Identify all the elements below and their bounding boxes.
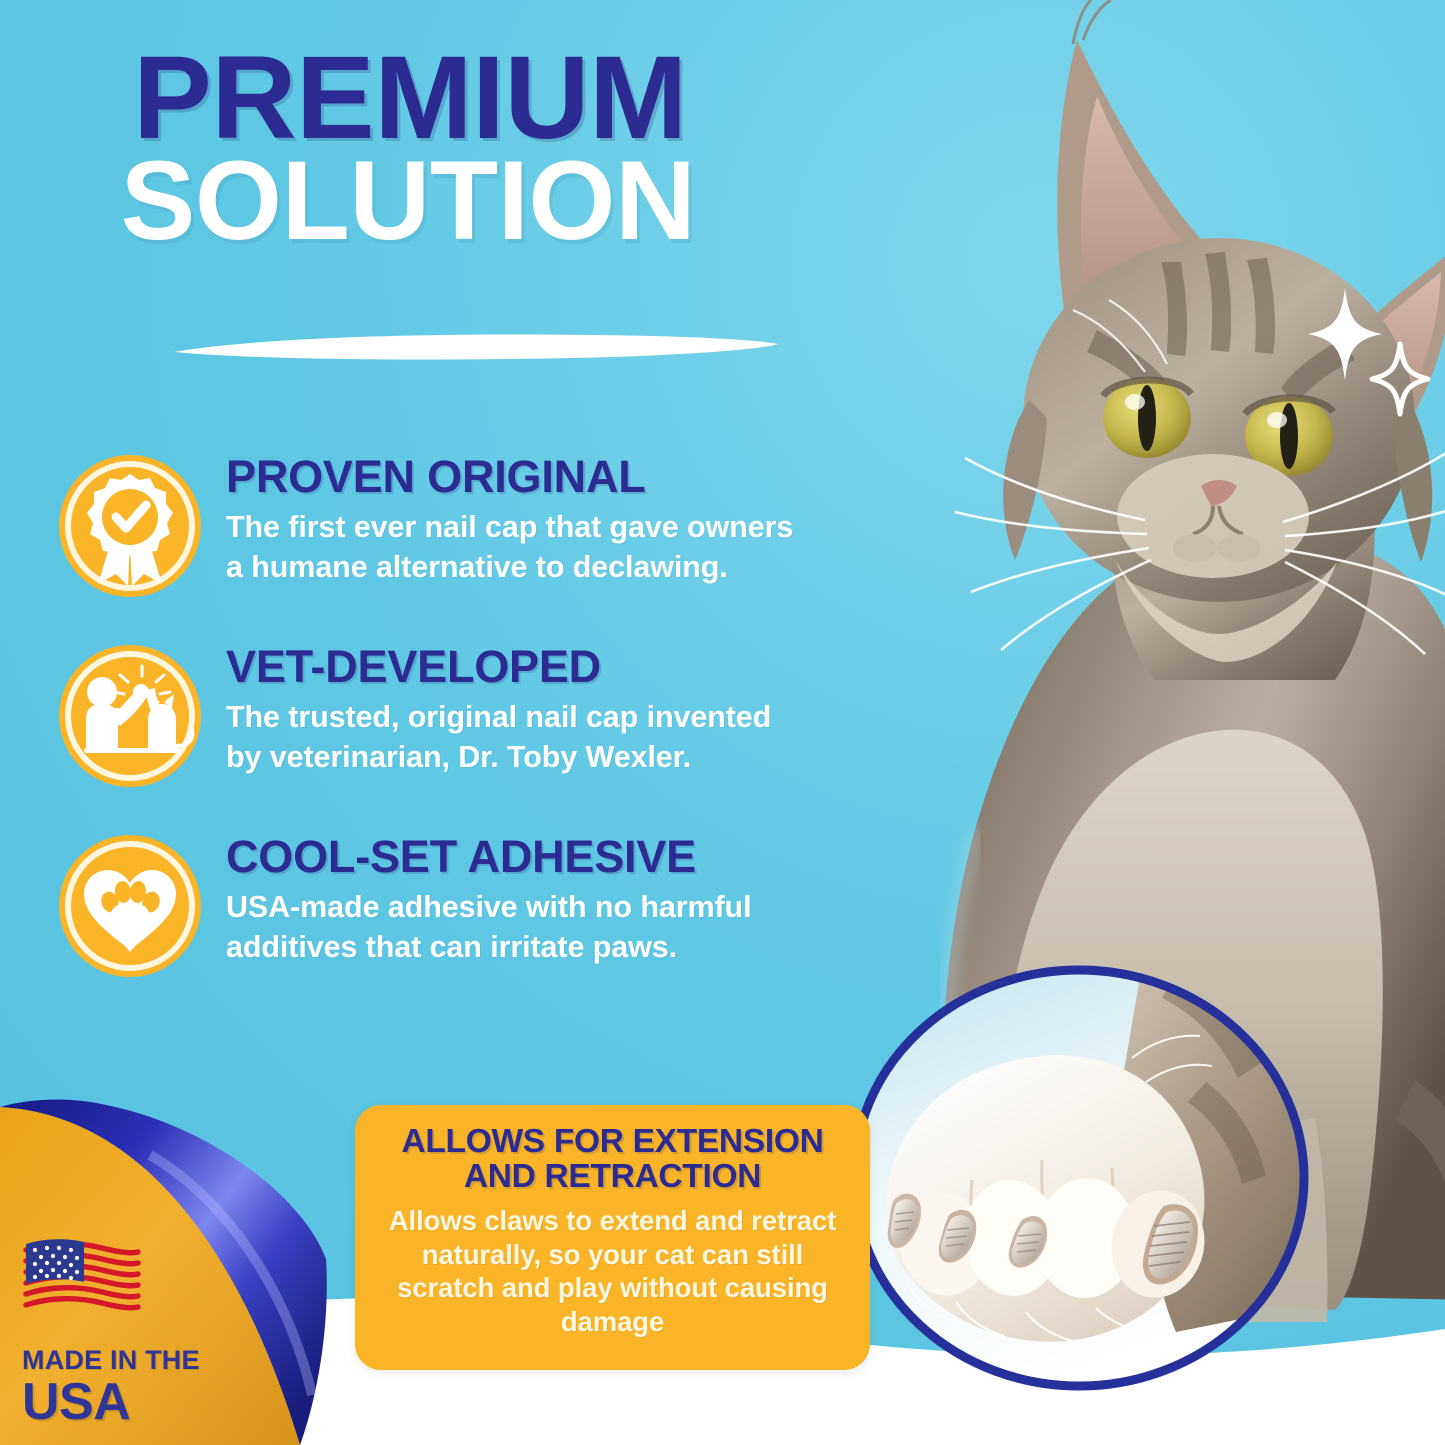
cat-paw-inset — [846, 962, 1312, 1394]
feature-item: COOL-SET ADHESIVE USA-made adhesive with… — [56, 826, 846, 980]
callout-title-line1: ALLOWS FOR EXTENSION — [377, 1125, 848, 1160]
headline-line-solution: SOLUTION — [0, 153, 810, 249]
feature-item: PROVEN ORIGINAL The first ever nail cap … — [56, 446, 846, 600]
extension-retraction-callout: ALLOWS FOR EXTENSION AND RETRACTION Allo… — [355, 1105, 870, 1370]
headline-line-premium: PREMIUM — [0, 48, 810, 149]
award-ribbon-check-icon — [56, 452, 204, 600]
feature-body: USA-made adhesive with no harmful additi… — [226, 888, 796, 967]
heart-paw-icon — [56, 832, 204, 980]
feature-item: VET-DEVELOPED The trusted, original nail… — [56, 636, 846, 790]
vet-high-five-cat-icon — [56, 642, 204, 790]
feature-body: The first ever nail cap that gave owners… — [226, 508, 796, 587]
feature-title: PROVEN ORIGINAL — [226, 454, 846, 499]
feature-text: COOL-SET ADHESIVE USA-made adhesive with… — [226, 826, 846, 967]
feature-title: COOL-SET ADHESIVE — [226, 834, 846, 879]
callout-title-line2: AND RETRACTION — [377, 1160, 848, 1195]
callout-body: Allows claws to extend and retract natur… — [377, 1204, 848, 1338]
brush-underline — [172, 330, 782, 364]
feature-body: The trusted, original nail cap invented … — [226, 698, 796, 777]
feature-list: PROVEN ORIGINAL The first ever nail cap … — [56, 446, 846, 1016]
callout-title: ALLOWS FOR EXTENSION AND RETRACTION — [377, 1125, 848, 1194]
sparkle-star-outline-icon — [1368, 340, 1432, 418]
product-marketing-graphic: PREMIUM SOLUTION — [0, 0, 1445, 1445]
feature-text: PROVEN ORIGINAL The first ever nail cap … — [226, 446, 846, 587]
usa-flag-icon — [22, 1238, 142, 1316]
feature-title: VET-DEVELOPED — [226, 644, 846, 689]
headline-block: PREMIUM SOLUTION — [0, 48, 810, 250]
feature-text: VET-DEVELOPED The trusted, original nail… — [226, 636, 846, 777]
